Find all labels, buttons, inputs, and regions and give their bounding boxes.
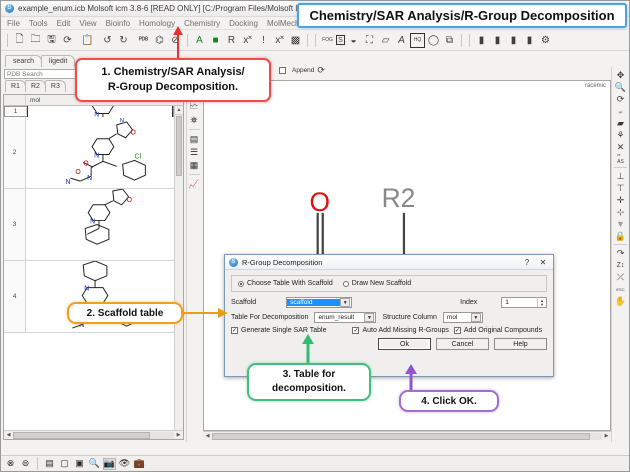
checkbox-indicator: ✓ <box>454 327 461 334</box>
grid-header-index <box>4 95 26 105</box>
open-folder-icon[interactable]: 🗀 <box>28 33 43 48</box>
status-bar: ⊗ ⊜ ▤ ▢ ▣ 🔍 📷 👁 💼 <box>1 455 629 471</box>
table-row[interactable]: 1 <box>4 106 174 117</box>
italic-a-icon[interactable]: A <box>394 33 409 48</box>
callout-menu-path-text: Chemistry/SAR Analysis/R-Group Decomposi… <box>309 8 614 23</box>
svg-text:O: O <box>83 160 89 167</box>
xx-as-icon[interactable]: ˣˣAS <box>613 153 629 165</box>
svg-text:O: O <box>131 130 137 137</box>
tab-search[interactable]: search <box>5 55 42 67</box>
stop-icon[interactable]: ⊗ <box>4 458 17 470</box>
canvas-horizontal-scrollbar[interactable]: ◀ ▶ <box>203 431 611 440</box>
structure-column-select[interactable]: mol ▼ <box>443 312 483 323</box>
filter-icon[interactable]: ▼ <box>613 218 629 230</box>
index-label: Index <box>460 299 477 306</box>
box-icon[interactable]: ▱ <box>378 33 393 48</box>
structure-column-label: Structure Column <box>382 314 436 321</box>
chevron-down-icon[interactable]: ▼ <box>340 298 350 307</box>
fog-icon[interactable]: FOG <box>320 33 335 48</box>
redo-icon[interactable]: ↻ <box>116 33 131 48</box>
scaffold-select[interactable]: scaffold ▼ <box>286 297 352 308</box>
table-for-decomposition-select[interactable]: enum_result ▼ <box>314 312 376 323</box>
row-index: 2 <box>4 117 26 188</box>
molecule-structure-cell[interactable]: O N N <box>26 189 174 260</box>
tab-r3[interactable]: R3 <box>45 80 66 92</box>
scroll-track[interactable] <box>212 433 602 440</box>
grid-body: 1 <box>4 106 174 430</box>
exclamation-icon[interactable]: ! <box>256 33 271 48</box>
zoom-icon[interactable]: 🔍 <box>613 81 629 93</box>
radio-draw-new-scaffold[interactable]: Draw New Scaffold <box>343 280 411 287</box>
radio-indicator <box>343 281 349 287</box>
window-title: example_enum.icb Molsoft icm 3.8-6 [READ… <box>18 4 300 13</box>
menu-item-edit[interactable]: Edit <box>57 19 71 28</box>
left-pane: PDB Search R1 R2 R3 mol 1 <box>1 67 186 442</box>
scroll-right-arrow[interactable]: ▶ <box>602 433 611 439</box>
scaffold-select-value: scaffold <box>287 299 340 306</box>
r-group-icon[interactable]: R <box>224 33 239 48</box>
dialog-buttons: Ok Cancel Help <box>231 338 547 350</box>
help-button[interactable]: Help <box>494 338 547 350</box>
grid-view-icon[interactable]: ▦ <box>188 159 201 171</box>
callout-step-3: 3. Table for decomposition. <box>247 363 371 401</box>
index-value: 1 <box>502 299 537 306</box>
circle-icon[interactable]: ◯ <box>426 33 441 48</box>
close-x-icon[interactable]: ✕ <box>613 141 629 153</box>
menu-item-docking[interactable]: Docking <box>229 19 258 28</box>
refresh-icon[interactable]: ⟳ <box>317 65 325 76</box>
callout-step-2: 2. Scaffold table <box>67 302 183 324</box>
grid-vertical-scrollbar[interactable]: ▲ <box>174 106 183 430</box>
grid-icon[interactable]: ▩ <box>288 33 303 48</box>
tab-r1[interactable]: R1 <box>5 80 26 92</box>
add-label-icon[interactable]: A <box>192 33 207 48</box>
svg-text:N: N <box>120 118 124 124</box>
append-row: Append ⟳ <box>279 65 325 76</box>
binoculars-icon[interactable]: 🗠 <box>188 101 201 113</box>
scroll-thumb[interactable] <box>212 433 590 440</box>
align-top-icon[interactable]: ⊥ <box>613 170 629 182</box>
hand-icon[interactable]: ✋ <box>613 295 629 307</box>
svg-text:N: N <box>87 175 92 182</box>
table-for-decomposition-value: enum_result <box>315 314 364 321</box>
callout-step-3-line1: 3. Table for <box>283 368 336 382</box>
molecule-structure-cell[interactable]: O N N O N O N Cl <box>26 117 174 188</box>
render-icon[interactable]: ◒ <box>613 105 629 117</box>
radio-label: Draw New Scaffold <box>352 280 411 287</box>
terminate-icon[interactable]: ⊜ <box>19 458 32 470</box>
checkbox-add-original-compounds[interactable]: ✓ Add Original Compounds <box>454 327 542 334</box>
display-3-icon[interactable]: ▮ <box>506 33 521 48</box>
menu-item-file[interactable]: File <box>7 19 20 28</box>
menu-item-view[interactable]: View <box>79 19 96 28</box>
main-toolbar: 🗋 🗀 🖫 ⟳ 📋 ↺ ↻ ᴾᴰᴮ ⌬ ⊘ A ■ R x˟ ! x˟ ▩ FO… <box>1 30 629 51</box>
dialog-help-icon[interactable]: ? <box>521 258 533 267</box>
options-row: ✓ Generate Single SAR Table ✓ Auto Add M… <box>231 327 547 334</box>
new-file-icon[interactable]: 🗋 <box>12 33 27 48</box>
scroll-left-arrow[interactable]: ◀ <box>203 433 212 439</box>
molsoft-icon: S <box>5 4 14 13</box>
callout-arrow-red <box>169 25 189 61</box>
molsoft-icon: S <box>229 258 238 267</box>
table-row[interactable]: 3 <box>4 189 174 261</box>
callout-step-3-line2: decomposition. <box>272 382 346 396</box>
briefcase-icon[interactable]: 💼 <box>133 458 146 470</box>
hierarchy-icon[interactable]: ⛯ <box>188 114 201 126</box>
svg-text:N: N <box>65 179 70 186</box>
stereo-icon[interactable]: S <box>336 35 345 45</box>
scroll-track[interactable] <box>13 432 174 439</box>
lock-icon[interactable]: 🔒 <box>613 230 629 242</box>
grid-tools-sidebar: ➤ ✎ 🗠 ⛯ ▤ ☰ ▦ 📈 <box>186 67 201 442</box>
rgroup-label-r2: R2 <box>382 183 416 213</box>
application-window: S example_enum.icb Molsoft icm 3.8-6 [RE… <box>0 0 630 472</box>
dialog-body: Choose Table With Scaffold Draw New Scaf… <box>225 270 553 355</box>
fullscreen-icon[interactable]: ⛶ <box>362 33 377 48</box>
stepper-buttons[interactable]: ▲ ▼ <box>537 299 546 307</box>
structure-drawing: O N N <box>26 189 174 260</box>
scaffold-label: Scaffold <box>231 299 256 306</box>
dialog-close-icon[interactable]: ✕ <box>537 258 549 267</box>
checkbox-indicator: ✓ <box>231 327 238 334</box>
callout-step-1: 1. Chemistry/SAR Analysis/ R-Group Decom… <box>75 58 271 102</box>
index-stepper[interactable]: 1 ▲ ▼ <box>501 297 547 308</box>
x-superscript2-icon[interactable]: x˟ <box>272 33 287 48</box>
svg-text:Cl: Cl <box>135 153 142 160</box>
perspective-icon[interactable]: ◒ <box>346 33 361 48</box>
callout-step-1-line2: R-Group Decomposition. <box>108 80 238 95</box>
window-icon[interactable]: ▢ <box>58 458 71 470</box>
move-icon[interactable]: ✥ <box>613 69 629 81</box>
rgroup-decomposition-dialog[interactable]: S R-Group Decomposition ? ✕ Choose Table… <box>224 254 554 377</box>
structure-column-value: mol <box>444 314 471 321</box>
align-middle-icon[interactable]: ⊤ <box>613 182 629 194</box>
decomposition-row: Table For Decomposition enum_result ▼ St… <box>231 312 547 323</box>
menu-item-chemistry[interactable]: Chemistry <box>184 19 220 28</box>
svg-text:O: O <box>127 197 133 204</box>
scaffold-row: Scaffold scaffold ▼ Index 1 ▲ ▼ <box>231 297 547 308</box>
svg-text:N: N <box>116 189 120 191</box>
scaffold-mode-group: Choose Table With Scaffold Draw New Scaf… <box>231 275 547 292</box>
checkbox-indicator: ✓ <box>352 327 359 334</box>
display-4-icon[interactable]: ▮ <box>522 33 537 48</box>
scroll-up-arrow[interactable]: ▲ <box>175 106 183 115</box>
esc-icon[interactable]: ESC <box>613 283 629 295</box>
menu-item-tools[interactable]: Tools <box>29 19 48 28</box>
undo-icon[interactable]: ↺ <box>100 33 115 48</box>
refresh-icon[interactable]: ⟳ <box>60 33 75 48</box>
display-1-icon[interactable]: ▮ <box>474 33 489 48</box>
pdb-search-icon[interactable]: ᴾᴰᴮ <box>136 33 151 48</box>
dialog-title-bar: S R-Group Decomposition ? ✕ <box>225 255 553 270</box>
callout-step-1-line1: 1. Chemistry/SAR Analysis/ <box>101 65 244 80</box>
gear-icon[interactable]: ⚙ <box>538 33 553 48</box>
dialog-title: R-Group Decomposition <box>242 258 517 267</box>
checkbox-auto-add-missing-rgroups[interactable]: ✓ Auto Add Missing R-Groups <box>352 327 448 334</box>
svg-text:N: N <box>84 286 89 293</box>
align-center-icon[interactable]: ✛ <box>613 194 629 206</box>
right-toolbar-outer: ✥ 🔍 ⟳ ◒ ▰ ⚘ ✕ ˣˣAS ⊥ ⊤ ✛ ⊹ ▼ 🔒 ↷ Z↕ ⤫ ES… <box>611 67 629 442</box>
chevron-down-icon[interactable]: ▼ <box>364 313 374 322</box>
callout-menu-path: Chemistry/SAR Analysis/R-Group Decomposi… <box>297 3 627 28</box>
atom-label-o: O <box>310 187 331 217</box>
magnifier-icon[interactable]: 🔍 <box>88 458 101 470</box>
svg-text:O: O <box>75 169 81 176</box>
structure-drawing: O N N O N O N Cl <box>26 117 174 188</box>
list-view-icon[interactable]: ☰ <box>188 146 201 158</box>
radio-label: Choose Table With Scaffold <box>247 280 333 287</box>
copy-window-icon[interactable]: ⧉ <box>442 33 457 48</box>
molecule-icon[interactable]: ⚘ <box>613 129 629 141</box>
display-2-icon[interactable]: ▮ <box>490 33 505 48</box>
row-index: 4 <box>4 261 26 332</box>
x-superscript-icon[interactable]: x˟ <box>240 33 255 48</box>
tab-ligedit[interactable]: ligedit <box>41 55 75 67</box>
scroll-thumb[interactable] <box>13 432 150 439</box>
append-checkbox[interactable] <box>279 67 286 74</box>
checkbox-label: Add Original Compounds <box>464 327 542 334</box>
search-molecule-icon[interactable]: ⌬ <box>152 33 167 48</box>
row-index: 3 <box>4 189 26 260</box>
callout-step-4-text: 4. Click OK. <box>421 396 477 407</box>
menu-item-bioinfo[interactable]: Bioinfo <box>106 19 130 28</box>
table-for-decomposition-label: Table For Decomposition <box>231 314 308 321</box>
z-axis-icon[interactable]: Z↕ <box>613 259 629 271</box>
callout-arrow-orange <box>182 307 230 319</box>
radio-choose-table-with-scaffold[interactable]: Choose Table With Scaffold <box>238 280 333 287</box>
panel-icon[interactable]: ▣ <box>73 458 86 470</box>
stepper-down-icon[interactable]: ▼ <box>537 303 546 307</box>
grid-horizontal-scrollbar[interactable]: ◀ ▶ <box>4 430 183 439</box>
select-rect-icon[interactable]: ■ <box>208 33 223 48</box>
undo-arc-icon[interactable]: ↷ <box>613 247 629 259</box>
align-bottom-icon[interactable]: ⊹ <box>613 206 629 218</box>
append-label: Append <box>292 67 314 74</box>
scroll-left-arrow[interactable]: ◀ <box>4 432 13 438</box>
checkbox-label: Auto Add Missing R-Groups <box>362 327 448 334</box>
rotate-icon[interactable]: ⟳ <box>613 93 629 105</box>
row-index: 1 <box>5 108 27 115</box>
hq-icon[interactable]: HQ <box>410 33 425 48</box>
cancel-button[interactable]: Cancel <box>436 338 489 350</box>
eye-icon[interactable]: 👁 <box>118 458 131 470</box>
paste-icon[interactable]: 📋 <box>80 33 95 48</box>
molecule-grid-panel: mol 1 <box>3 94 184 440</box>
shrink-icon[interactable]: ⤫ <box>613 271 629 283</box>
label-icon[interactable]: ▰ <box>613 117 629 129</box>
script-icon[interactable]: ▤ <box>43 458 56 470</box>
callout-step-2-text: 2. Scaffold table <box>87 308 164 319</box>
save-icon[interactable]: 🖫 <box>44 33 59 48</box>
table-props-icon[interactable]: ▤ <box>188 133 201 145</box>
scroll-right-arrow[interactable]: ▶ <box>174 432 183 438</box>
table-row[interactable]: 2 <box>4 117 174 189</box>
tab-r2[interactable]: R2 <box>25 80 46 92</box>
camera-icon[interactable]: 📷 <box>103 458 116 470</box>
chart-icon[interactable]: 📈 <box>188 178 201 190</box>
scroll-thumb[interactable] <box>176 116 182 176</box>
svg-text:N: N <box>90 219 95 226</box>
svg-text:N: N <box>94 152 99 159</box>
ok-button[interactable]: Ok <box>378 338 431 350</box>
chevron-down-icon[interactable]: ▼ <box>471 313 481 322</box>
callout-step-4: 4. Click OK. <box>399 390 499 412</box>
radio-indicator <box>238 281 244 287</box>
